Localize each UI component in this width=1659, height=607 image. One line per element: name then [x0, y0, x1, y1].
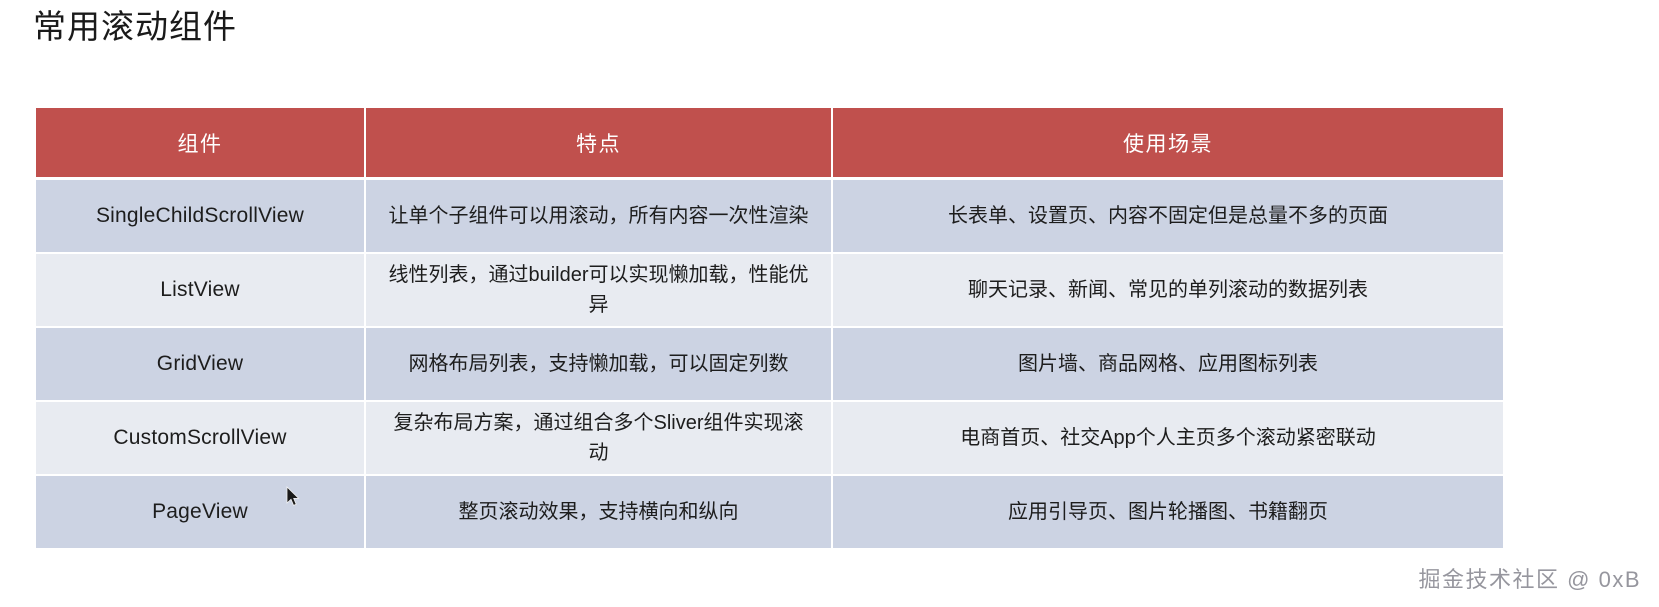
table-body: SingleChildScrollView 让单个子组件可以用滚动，所有内容一次… — [36, 179, 1503, 549]
table-row: ListView 线性列表，通过builder可以实现懒加载，性能优异 聊天记录… — [36, 253, 1503, 327]
table-row: PageView 整页滚动效果，支持横向和纵向 应用引导页、图片轮播图、书籍翻页 — [36, 475, 1503, 549]
cell-feature: 复杂布局方案，通过组合多个Sliver组件实现滚动 — [365, 401, 832, 475]
cell-feature: 网格布局列表，支持懒加载，可以固定列数 — [365, 327, 832, 401]
cell-component: GridView — [36, 327, 365, 401]
table-header-row: 组件 特点 使用场景 — [36, 108, 1503, 179]
column-header-usecase: 使用场景 — [832, 108, 1503, 179]
cell-usecase: 长表单、设置页、内容不固定但是总量不多的页面 — [832, 179, 1503, 253]
cell-feature: 让单个子组件可以用滚动，所有内容一次性渲染 — [365, 179, 832, 253]
cell-usecase: 电商首页、社交App个人主页多个滚动紧密联动 — [832, 401, 1503, 475]
cell-usecase: 聊天记录、新闻、常见的单列滚动的数据列表 — [832, 253, 1503, 327]
cell-component: ListView — [36, 253, 365, 327]
table-row: CustomScrollView 复杂布局方案，通过组合多个Sliver组件实现… — [36, 401, 1503, 475]
cell-component: PageView — [36, 475, 365, 549]
cell-usecase: 图片墙、商品网格、应用图标列表 — [832, 327, 1503, 401]
table-row: GridView 网格布局列表，支持懒加载，可以固定列数 图片墙、商品网格、应用… — [36, 327, 1503, 401]
column-header-feature: 特点 — [365, 108, 832, 179]
table-row: SingleChildScrollView 让单个子组件可以用滚动，所有内容一次… — [36, 179, 1503, 253]
column-header-component: 组件 — [36, 108, 365, 179]
page-title: 常用滚动组件 — [33, 5, 237, 49]
cell-component: CustomScrollView — [36, 401, 365, 475]
cell-feature: 线性列表，通过builder可以实现懒加载，性能优异 — [365, 253, 832, 327]
table-header: 组件 特点 使用场景 — [36, 108, 1503, 179]
cell-usecase: 应用引导页、图片轮播图、书籍翻页 — [832, 475, 1503, 549]
watermark: 掘金技术社区 @ 0xB — [1419, 562, 1641, 594]
scroll-widgets-table: 组件 特点 使用场景 SingleChildScrollView 让单个子组件可… — [36, 108, 1503, 550]
cell-feature: 整页滚动效果，支持横向和纵向 — [365, 475, 832, 549]
cell-component: SingleChildScrollView — [36, 179, 365, 253]
slide-canvas: 常用滚动组件 组件 特点 使用场景 SingleChildScrollView … — [0, 0, 1659, 607]
